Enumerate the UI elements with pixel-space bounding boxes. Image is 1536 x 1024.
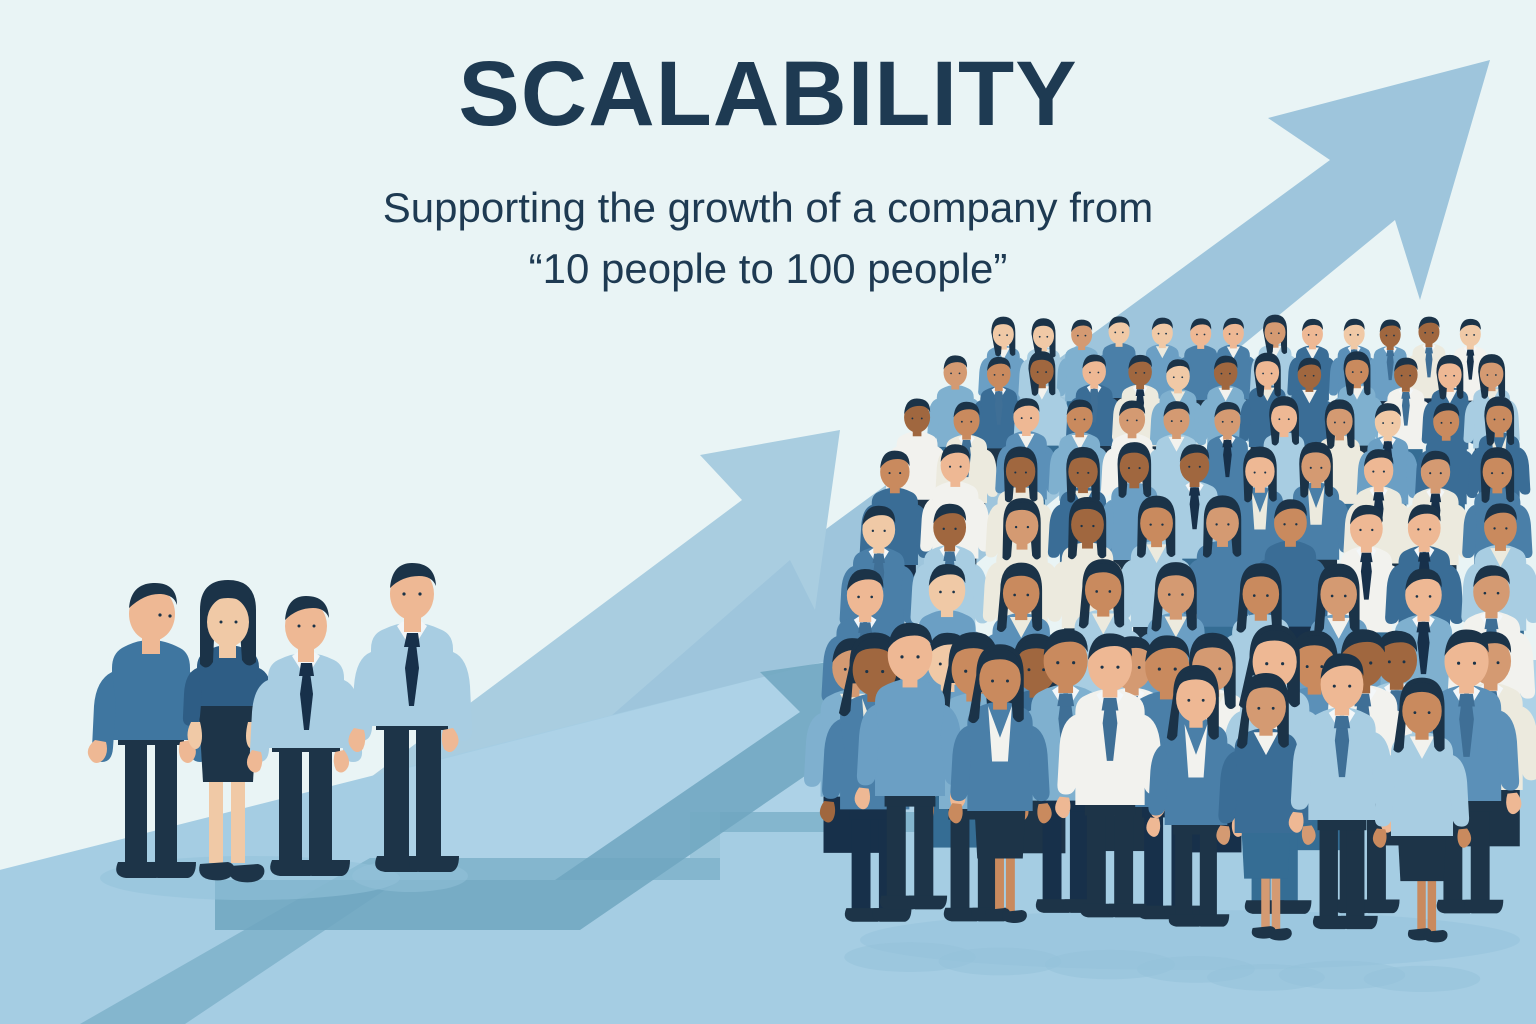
illustration-canvas: SCALABILITY Supporting the growth of a c… [0,0,1536,1024]
scalability-illustration [0,0,1536,1024]
page-title: SCALABILITY [0,48,1536,140]
page-subtitle: Supporting the growth of a company from … [0,178,1536,300]
subtitle-line-1: Supporting the growth of a company from [0,178,1536,239]
subtitle-line-2: “10 people to 100 people” [0,239,1536,300]
